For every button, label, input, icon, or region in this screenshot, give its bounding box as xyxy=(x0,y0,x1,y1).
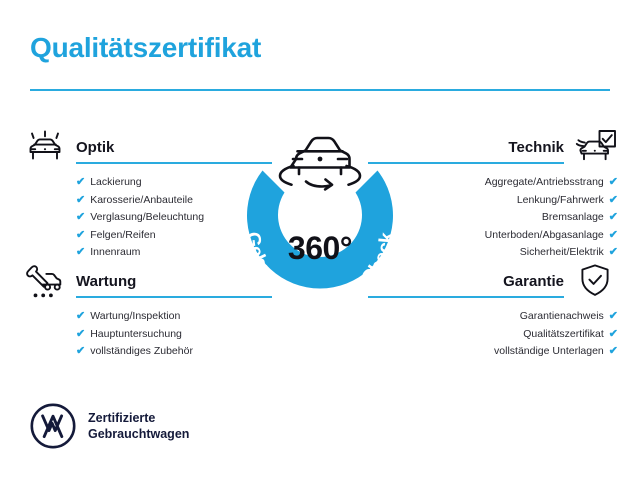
check-icon: ✔ xyxy=(609,177,618,188)
check-icon: ✔ xyxy=(76,177,85,188)
list-item: ✔Hauptuntersuchung xyxy=(76,329,272,340)
check-icon: ✔ xyxy=(76,195,85,206)
car-rotate-icon xyxy=(280,138,360,189)
list-item: ✔vollständiges Zubehör xyxy=(76,346,272,357)
footer-line-1: Zertifizierte xyxy=(88,410,189,426)
check-icon: ✔ xyxy=(609,346,618,357)
badge-center-label: 360° xyxy=(222,230,418,267)
check-icon: ✔ xyxy=(76,212,85,223)
footer-brand: Zertifizierte Gebrauchtwagen xyxy=(30,403,189,449)
list-item-label: Aggregate/Antriebsstrang xyxy=(485,177,604,188)
check-icon: ✔ xyxy=(609,329,618,340)
list-item-label: Bremsanlage xyxy=(542,212,604,223)
list-item-label: Sicherheit/Elektrik xyxy=(520,247,604,258)
check-icon: ✔ xyxy=(609,247,618,258)
list-item-label: Lackierung xyxy=(90,177,141,188)
check-icon: ✔ xyxy=(609,311,618,322)
volkswagen-logo xyxy=(30,403,76,449)
list-item-label: Unterboden/Abgasanlage xyxy=(485,230,604,241)
badge-360-gebrauchtwagen-check: Gebrauchtwagen-Check 360° xyxy=(222,124,418,324)
footer-text: Zertifizierte Gebrauchtwagen xyxy=(88,410,189,442)
list-item-label: Verglasung/Beleuchtung xyxy=(90,212,204,223)
list-item-label: Wartung/Inspektion xyxy=(90,311,180,322)
list-item-label: Felgen/Reifen xyxy=(90,230,155,241)
list-item: ✔vollständige Unterlagen xyxy=(368,346,618,357)
car-checkbox-icon xyxy=(572,128,618,168)
check-icon: ✔ xyxy=(609,195,618,206)
list-item-label: Garantienachweis xyxy=(520,311,604,322)
check-icon: ✔ xyxy=(76,230,85,241)
list-item: ✔Qualitätszertifikat xyxy=(368,329,618,340)
title-divider xyxy=(30,89,610,91)
check-icon: ✔ xyxy=(609,230,618,241)
car-shine-icon xyxy=(22,128,68,168)
page-title: Qualitätszertifikat xyxy=(30,32,261,64)
list-item-label: Innenraum xyxy=(90,247,140,258)
check-icon: ✔ xyxy=(76,311,85,322)
check-icon: ✔ xyxy=(609,212,618,223)
certificate-page: Qualitätszertifikat Optik xyxy=(0,0,640,480)
list-item-label: Hauptuntersuchung xyxy=(90,329,182,340)
car-wrench-icon xyxy=(22,262,68,302)
footer-line-2: Gebrauchtwagen xyxy=(88,426,189,442)
list-item-label: vollständige Unterlagen xyxy=(494,346,604,357)
list-item-label: Qualitätszertifikat xyxy=(523,329,604,340)
list-item-label: Karosserie/Anbauteile xyxy=(90,195,193,206)
check-icon: ✔ xyxy=(76,247,85,258)
list-item-label: vollständiges Zubehör xyxy=(90,346,193,357)
shield-check-icon xyxy=(572,262,618,302)
check-icon: ✔ xyxy=(76,346,85,357)
check-icon: ✔ xyxy=(76,329,85,340)
list-item-label: Lenkung/Fahrwerk xyxy=(517,195,604,206)
